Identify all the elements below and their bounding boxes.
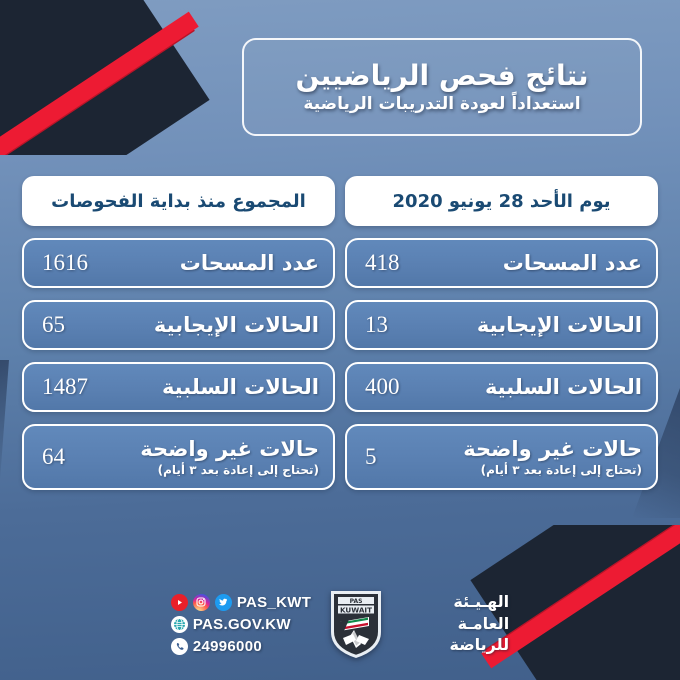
pas-kuwait-shield-logo: PAS KUWAIT <box>329 588 383 660</box>
row-label: الحالات الإيجابية <box>477 313 642 337</box>
authority-line-2: العامـة <box>458 614 510 634</box>
corner-decoration-top-left <box>0 0 215 155</box>
row-label: حالات غير واضحة <box>140 437 319 461</box>
authority-line-1: الهـيـئة <box>453 592 509 612</box>
column-header-total-label: المجموع منذ بداية الفحوصات <box>51 191 306 212</box>
row-value: 418 <box>361 250 400 276</box>
row-label: الحالات السلبية <box>162 375 319 399</box>
authority-name: الهـيـئة العامـة للرياضة <box>401 592 509 655</box>
footer: الهـيـئة العامـة للرياضة PAS KUWAIT <box>0 578 680 670</box>
contact-phone: 24996000 <box>171 638 311 655</box>
row-value: 400 <box>361 374 400 400</box>
svg-text:PAS: PAS <box>350 598 363 605</box>
contact-social: PAS_KWT <box>171 594 311 611</box>
statistics-table: يوم الأحد 28 يونيو 2020 عدد المسحات 418 … <box>22 176 658 490</box>
row-value: 64 <box>38 444 65 470</box>
contact-info: PAS_KWT PAS.GOV.KW <box>171 594 311 655</box>
row-label: الحالات الإيجابية <box>154 313 319 337</box>
website-url[interactable]: PAS.GOV.KW <box>193 616 291 633</box>
row-value: 1616 <box>38 250 88 276</box>
table-row: الحالات السلبية 400 <box>345 362 658 412</box>
svg-text:KUWAIT: KUWAIT <box>340 605 372 614</box>
row-value: 65 <box>38 312 65 338</box>
page-title: نتائج فحص الرياضيين <box>295 60 588 92</box>
row-note: (تحتاج إلى إعادة بعد ٣ أيام) <box>158 463 319 477</box>
globe-icon[interactable] <box>171 616 188 633</box>
table-row: الحالات السلبية 1487 <box>22 362 335 412</box>
row-value: 13 <box>361 312 388 338</box>
row-label: عدد المسحات <box>503 251 642 275</box>
phone-icon[interactable] <box>171 638 188 655</box>
row-value: 5 <box>361 444 377 470</box>
row-note: (تحتاج إلى إعادة بعد ٣ أيام) <box>481 463 642 477</box>
row-value: 1487 <box>38 374 88 400</box>
column-header-today: يوم الأحد 28 يونيو 2020 <box>345 176 658 226</box>
youtube-icon[interactable] <box>171 594 188 611</box>
title-card: نتائج فحص الرياضيين استعداداً لعودة التد… <box>242 38 642 136</box>
contact-website: PAS.GOV.KW <box>171 616 311 633</box>
table-row: عدد المسحات 418 <box>345 238 658 288</box>
table-row: الحالات الإيجابية 65 <box>22 300 335 350</box>
table-row: حالات غير واضحة (تحتاج إلى إعادة بعد ٣ أ… <box>345 424 658 490</box>
row-label: الحالات السلبية <box>485 375 642 399</box>
column-total: المجموع منذ بداية الفحوصات عدد المسحات 1… <box>22 176 335 490</box>
table-row: الحالات الإيجابية 13 <box>345 300 658 350</box>
row-label: عدد المسحات <box>180 251 319 275</box>
twitter-icon[interactable] <box>215 594 232 611</box>
table-row: حالات غير واضحة (تحتاج إلى إعادة بعد ٣ أ… <box>22 424 335 490</box>
column-today: يوم الأحد 28 يونيو 2020 عدد المسحات 418 … <box>345 176 658 490</box>
table-row: عدد المسحات 1616 <box>22 238 335 288</box>
instagram-icon[interactable] <box>193 594 210 611</box>
phone-number[interactable]: 24996000 <box>193 638 262 655</box>
column-header-today-label: يوم الأحد 28 يونيو 2020 <box>393 191 611 212</box>
row-label: حالات غير واضحة <box>463 437 642 461</box>
column-header-total: المجموع منذ بداية الفحوصات <box>22 176 335 226</box>
social-handle[interactable]: PAS_KWT <box>237 594 311 611</box>
authority-line-3: للرياضة <box>450 635 510 655</box>
page-subtitle: استعداداً لعودة التدريبات الرياضية <box>303 94 580 114</box>
